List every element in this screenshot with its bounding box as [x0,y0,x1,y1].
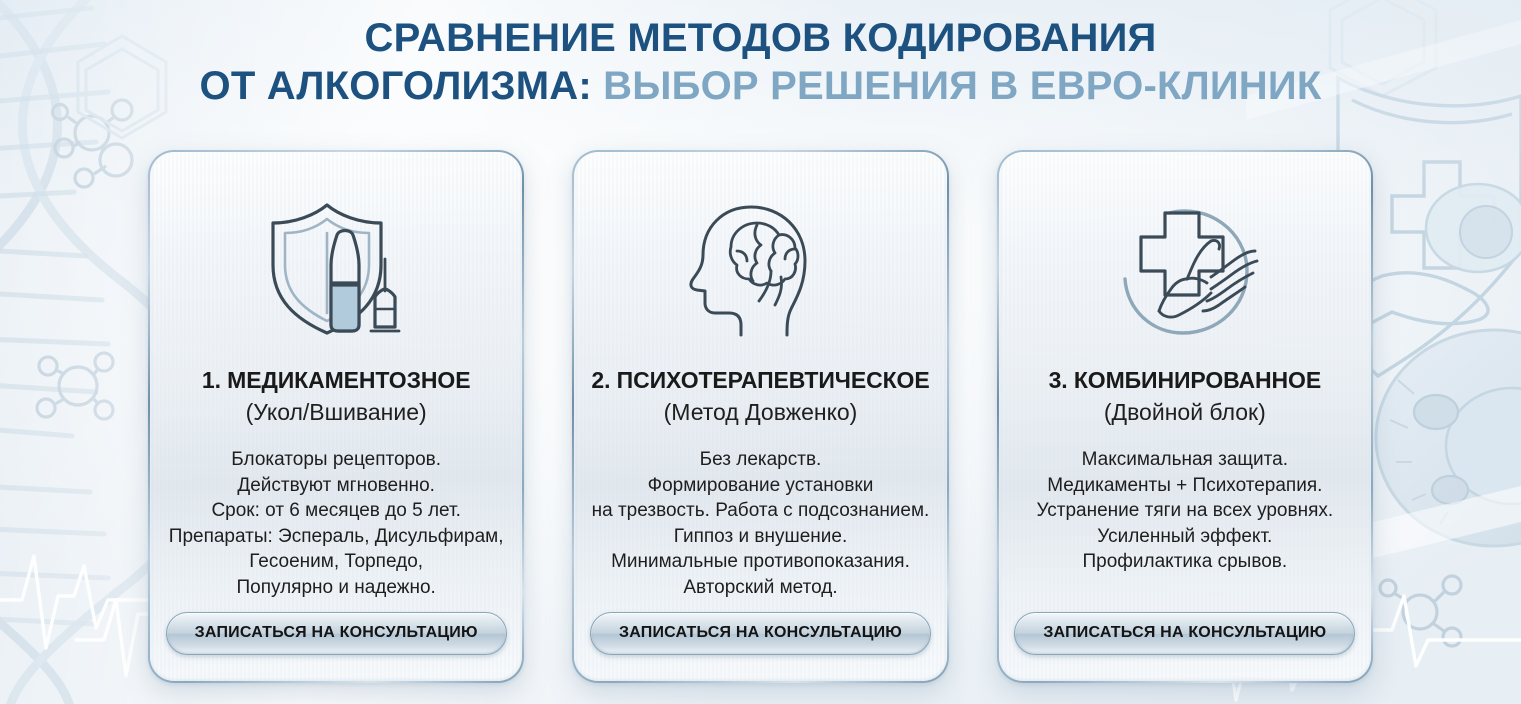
method-card-psychotherapy[interactable]: 2. ПСИХОТЕРАПЕВТИЧЕСКОЕ (Метод Довженко)… [572,150,948,683]
card-title: 1. МЕДИКАМЕНТОЗНОЕ [202,366,471,395]
book-consultation-button[interactable]: ЗАПИСАТЬСЯ НА КОНСУЛЬТАЦИЮ [590,612,931,655]
card-description: Максимальная защита. Медикаменты + Психо… [1026,447,1343,575]
title-line-2-accent: ВЫБОР РЕШЕНИЯ В ЕВРО-КЛИНИК [603,64,1321,108]
method-card-combined[interactable]: 3. КОМБИНИРОВАННОЕ (Двойной блок) Максим… [997,150,1373,683]
card-subtitle: (Двойной блок) [1104,397,1266,427]
page-title: СРАВНЕНИЕ МЕТОДОВ КОДИРОВАНИЯ ОТ АЛКОГОЛ… [0,14,1521,110]
card-description: Блокаторы рецепторов. Действуют мгновенн… [159,447,514,600]
molecule-icon [53,100,133,187]
card-subtitle: (Метод Довженко) [664,397,858,427]
book-consultation-button[interactable]: ЗАПИСАТЬСЯ НА КОНСУЛЬТАЦИЮ [1014,612,1355,655]
method-cards-row: 1. МЕДИКАМЕНТОЗНОЕ (Укол/Вшивание) Блока… [148,150,1373,683]
title-line-1: СРАВНЕНИЕ МЕТОДОВ КОДИРОВАНИЯ [0,14,1521,62]
card-title: 2. ПСИХОТЕРАПЕВТИЧЕСКОЕ [591,366,929,395]
shield-ampoule-syringe-icon [251,194,421,344]
molecule-icon [1380,576,1461,646]
molecule-icon [37,353,113,419]
method-card-medication[interactable]: 1. МЕДИКАМЕНТОЗНОЕ (Укол/Вшивание) Блока… [148,150,524,683]
cell-icon [1376,184,1521,546]
card-subtitle: (Укол/Вшивание) [246,397,427,427]
card-title: 3. КОМБИНИРОВАННОЕ [1049,366,1322,395]
cta-container: ЗАПИСАТЬСЯ НА КОНСУЛЬТАЦИЮ [590,612,931,655]
title-line-2-main: ОТ АЛКОГОЛИЗМА: [200,64,592,108]
infographic-banner: СРАВНЕНИЕ МЕТОДОВ КОДИРОВАНИЯ ОТ АЛКОГОЛ… [0,0,1521,704]
cta-container: ЗАПИСАТЬСЯ НА КОНСУЛЬТАЦИЮ [166,612,507,655]
card-description: Без лекарств. Формирование установки на … [582,447,940,600]
title-line-2: ОТ АЛКОГОЛИЗМА: ВЫБОР РЕШЕНИЯ В ЕВРО-КЛИ… [0,62,1521,110]
head-brain-icon [675,194,845,344]
book-consultation-button[interactable]: ЗАПИСАТЬСЯ НА КОНСУЛЬТАЦИЮ [166,612,507,655]
cta-container: ЗАПИСАТЬСЯ НА КОНСУЛЬТАЦИЮ [1014,612,1355,655]
cross-helping-hands-icon [1100,194,1270,344]
